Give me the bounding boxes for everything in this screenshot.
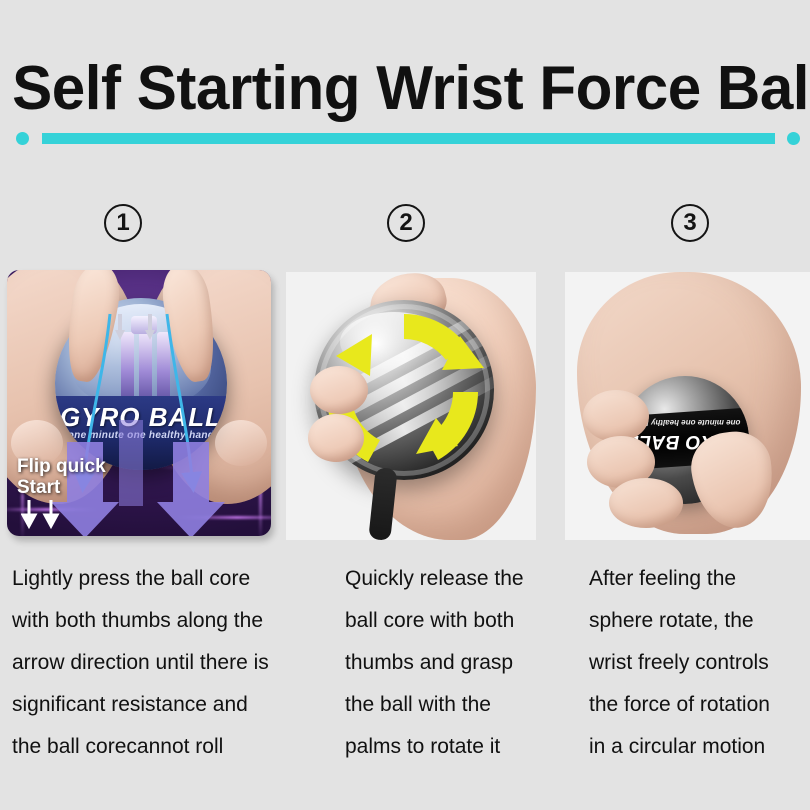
step-2-caption: Quickly release the ball core with both … [345,558,585,768]
down-arrows-icon [21,500,67,530]
rule-dot-left-icon [16,132,29,145]
ring-finger [609,478,683,528]
ring-finger [308,414,364,462]
step-number-badge-2: 2 [387,204,425,242]
page-header: Self Starting Wrist Force Ball [0,0,810,170]
index-finger [583,390,649,442]
rule-dot-right-icon [787,132,800,145]
step-1-illustration: GYRO BALL one minute one healthy hand Fl… [7,270,271,536]
flip-quick-start-label: Flip quick Start [17,456,106,498]
middle-finger [310,366,368,414]
step-number-badge-1: 1 [104,204,142,242]
step-3-illustration: one minute one healthy hand GYRO BALL [565,272,810,540]
step-3-caption: After feeling the sphere rotate, the wri… [589,558,810,768]
step-1-caption: Lightly press the ball core with both th… [12,558,312,768]
step-number-badge-3: 3 [671,204,709,242]
title-underline-rule [42,133,775,144]
step-2-illustration [286,272,536,540]
page-title: Self Starting Wrist Force Ball [12,54,798,124]
